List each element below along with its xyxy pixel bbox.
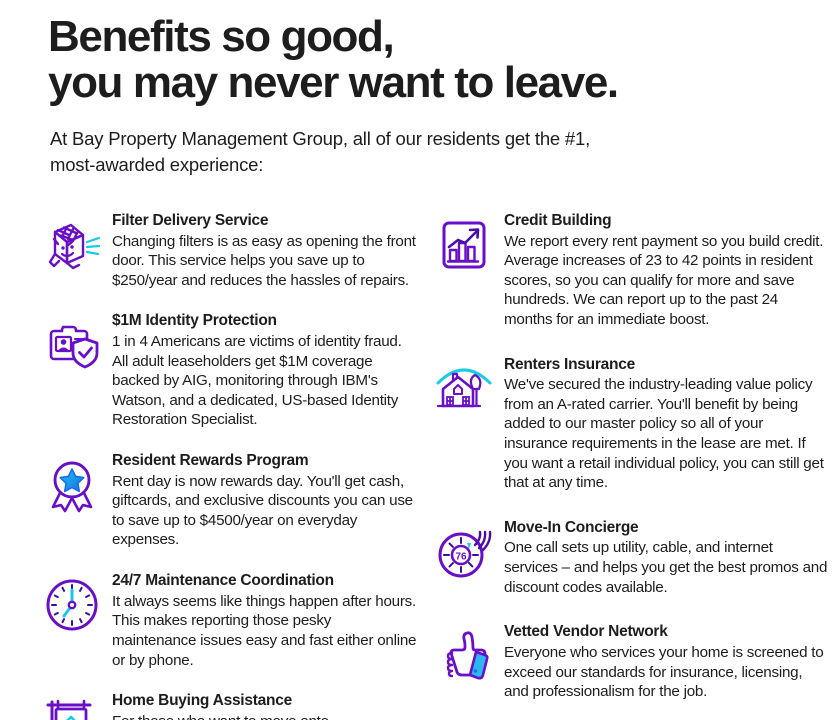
running-air-filter-icon: [36, 214, 108, 276]
benefit-text: For those who want to move onto homeowne…: [112, 712, 418, 720]
benefit-title: Move-In Concierge: [504, 519, 828, 538]
benefit-item-maintenance-coordination: 24/7 Maintenance Coordination It always …: [36, 572, 418, 670]
benefit-title: Resident Rewards Program: [112, 452, 418, 471]
benefit-item-vetted-vendor-network: Vetted Vendor Network Everyone who servi…: [428, 623, 828, 701]
benefit-item-credit-building: Credit Building We report every rent pay…: [428, 212, 828, 330]
benefit-item-identity-protection: $1M Identity Protection 1 in 4 Americans…: [36, 312, 418, 430]
benefits-column-left: Filter Delivery Service Changing filters…: [36, 212, 418, 720]
benefit-title: Vetted Vendor Network: [504, 623, 828, 642]
benefit-item-resident-rewards: Resident Rewards Program Rent day is now…: [36, 452, 418, 550]
benefit-text: Changing filters is as easy as opening t…: [112, 232, 418, 291]
benefit-title: Home Buying Assistance: [112, 692, 418, 711]
benefit-text: 1 in 4 Americans are victims of identity…: [112, 332, 418, 430]
benefit-text: Everyone who services your home is scree…: [504, 643, 828, 702]
benefit-text: Rent day is now rewards day. You'll get …: [112, 472, 418, 550]
benefit-body: Move-In Concierge One call sets up utili…: [500, 519, 828, 597]
benefit-item-home-buying-assistance: Home Buying Assistance For those who wan…: [36, 692, 418, 720]
benefit-body: Vetted Vendor Network Everyone who servi…: [500, 623, 828, 701]
benefits-column-right: Credit Building We report every rent pay…: [428, 212, 828, 718]
benefit-body: Resident Rewards Program Rent day is now…: [108, 452, 418, 550]
benefit-text: One call sets up utility, cable, and int…: [504, 538, 828, 597]
clock-icon: [36, 574, 108, 636]
benefit-text: We've secured the industry-leading value…: [504, 375, 828, 493]
benefit-title: Filter Delivery Service: [112, 212, 418, 231]
headline-line-1: Benefits so good,: [48, 14, 794, 60]
benefit-title: $1M Identity Protection: [112, 312, 418, 331]
benefit-body: Filter Delivery Service Changing filters…: [108, 212, 418, 290]
page-title: Benefits so good, you may never want to …: [0, 0, 834, 106]
house-for-sale-sign-icon: [36, 694, 108, 720]
benefit-title: Credit Building: [504, 212, 828, 231]
benefit-title: Renters Insurance: [504, 356, 828, 375]
svg-text:76: 76: [455, 551, 467, 562]
subheadline: At Bay Property Management Group, all of…: [0, 106, 720, 180]
benefit-item-move-in-concierge: 76 Move-In Concierge One call sets up ut…: [428, 519, 828, 597]
award-ribbon-star-icon: [36, 454, 108, 516]
benefit-text: It always seems like things happen after…: [112, 592, 418, 670]
benefit-text: We report every rent payment so you buil…: [504, 232, 828, 330]
subheadline-line-2: most-awarded experience:: [50, 152, 680, 179]
benefits-infographic: Benefits so good, you may never want to …: [0, 0, 834, 720]
benefit-body: Renters Insurance We've secured the indu…: [500, 356, 828, 493]
house-umbrella-icon: [428, 358, 500, 420]
benefit-body: Credit Building We report every rent pay…: [500, 212, 828, 330]
thumbs-up-icon: [428, 625, 500, 687]
benefit-body: Home Buying Assistance For those who wan…: [108, 692, 418, 720]
headline-line-2: you may never want to leave.: [48, 60, 794, 106]
benefit-item-renters-insurance: Renters Insurance We've secured the indu…: [428, 356, 828, 493]
benefit-item-filter-delivery-service: Filter Delivery Service Changing filters…: [36, 212, 418, 290]
doorbell-signal-icon: 76: [428, 521, 500, 583]
benefit-title: 24/7 Maintenance Coordination: [112, 572, 418, 591]
benefit-body: $1M Identity Protection 1 in 4 Americans…: [108, 312, 418, 430]
benefit-body: 24/7 Maintenance Coordination It always …: [108, 572, 418, 670]
bar-chart-growth-icon: [428, 214, 500, 276]
subheadline-line-1: At Bay Property Management Group, all of…: [50, 126, 680, 153]
id-card-shield-icon: [36, 314, 108, 376]
